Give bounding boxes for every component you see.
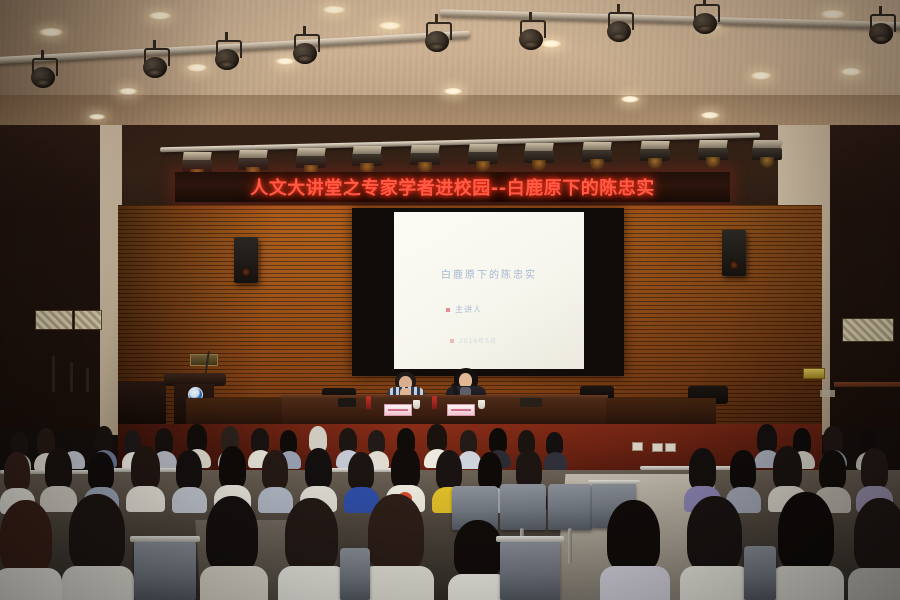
av-device bbox=[520, 398, 542, 407]
stage-par-light bbox=[868, 14, 894, 44]
name-placard bbox=[384, 404, 412, 416]
slide-bullet-2-label: 2016年5月 bbox=[459, 336, 497, 345]
slide-bullet-2: 2016年5月 bbox=[450, 336, 497, 345]
seat-rail bbox=[130, 536, 200, 542]
seat-rail bbox=[496, 536, 564, 542]
mic-stand bbox=[70, 362, 73, 392]
audience-person bbox=[200, 496, 266, 600]
stage-par-light bbox=[518, 20, 544, 50]
projection-screen-frame: 白鹿原下的陈忠实 主讲人 2016年5月 bbox=[352, 208, 624, 376]
wall-outlet bbox=[632, 442, 643, 451]
auditorium-seat[interactable] bbox=[744, 546, 776, 600]
loudspeaker-icon bbox=[722, 230, 746, 276]
auditorium-seat[interactable] bbox=[548, 484, 592, 530]
fresnel-light bbox=[752, 140, 782, 166]
downlight-icon bbox=[38, 28, 64, 37]
stage-equipment bbox=[118, 382, 166, 426]
audience-person bbox=[770, 492, 842, 600]
water-bottle bbox=[432, 396, 437, 409]
downlight-icon bbox=[820, 10, 846, 19]
audience-person bbox=[360, 494, 432, 600]
downlight-icon bbox=[840, 68, 862, 76]
louvre-window bbox=[74, 310, 102, 330]
audience-person bbox=[680, 496, 750, 600]
louvre-window bbox=[35, 310, 73, 330]
downlight-icon bbox=[700, 112, 720, 119]
banner-text: 人文大讲堂之专家学者进校园--白鹿原下的陈忠实 bbox=[250, 174, 654, 200]
stage-table-left-wing bbox=[186, 398, 282, 426]
wall-plaque bbox=[190, 354, 218, 366]
mic-stand bbox=[52, 356, 55, 392]
mic-stand bbox=[86, 368, 89, 392]
audience-person bbox=[448, 520, 508, 600]
projection-screen: 白鹿原下的陈忠实 主讲人 2016年5月 bbox=[394, 212, 584, 369]
event-banner: 人文大讲堂之专家学者进校园--白鹿原下的陈忠实 bbox=[175, 172, 730, 202]
stage-par-light bbox=[692, 4, 718, 34]
laptop-device bbox=[338, 398, 356, 407]
loudspeaker-icon bbox=[234, 237, 258, 283]
wall-outlet bbox=[665, 443, 676, 452]
downlight-icon bbox=[620, 96, 640, 103]
auditorium-seat[interactable] bbox=[340, 548, 370, 600]
fresnel-light bbox=[698, 140, 728, 166]
fresnel-light bbox=[524, 143, 554, 169]
downlight-icon bbox=[118, 88, 138, 95]
lecture-hall-photo: 人文大讲堂之专家学者进校园--白鹿原下的陈忠实 白鹿原下的陈忠实 主讲人 201… bbox=[0, 0, 900, 600]
audience-person bbox=[544, 432, 566, 466]
stage-par-light bbox=[142, 48, 168, 78]
fresnel-light bbox=[410, 145, 440, 171]
audience-person bbox=[0, 500, 60, 600]
seat-leg bbox=[568, 528, 572, 564]
downlight-icon bbox=[186, 64, 208, 72]
wall-accent-stripe bbox=[834, 382, 900, 387]
water-cup bbox=[478, 400, 485, 409]
stage-table-right-wing bbox=[606, 398, 716, 426]
water-bottle bbox=[366, 396, 371, 409]
wall-outlet bbox=[652, 443, 663, 452]
audience-person bbox=[278, 498, 346, 600]
audience-person bbox=[600, 500, 668, 600]
stage-par-light bbox=[606, 12, 632, 42]
stage-par-light bbox=[214, 40, 240, 70]
stage-par-light bbox=[292, 34, 318, 64]
water-cup bbox=[413, 400, 420, 409]
audience-person bbox=[848, 498, 900, 600]
fresnel-light bbox=[468, 144, 498, 170]
name-placard bbox=[447, 404, 475, 416]
fresnel-light bbox=[640, 141, 670, 167]
downlight-icon bbox=[148, 12, 172, 20]
seat-rail bbox=[588, 480, 640, 484]
downlight-icon bbox=[750, 72, 772, 80]
fresnel-light bbox=[582, 142, 612, 168]
stage-par-light bbox=[30, 58, 56, 88]
downlight-icon bbox=[378, 22, 402, 30]
gold-wall-sign bbox=[803, 368, 825, 379]
audience-person bbox=[62, 494, 132, 600]
auditorium-seat[interactable] bbox=[500, 540, 560, 600]
fresnel-light bbox=[296, 148, 326, 174]
small-wall-plate bbox=[820, 390, 835, 397]
downlight-icon bbox=[88, 114, 106, 120]
downlight-icon bbox=[322, 6, 346, 14]
louvre-window bbox=[842, 318, 894, 342]
slide-title: 白鹿原下的陈忠实 bbox=[394, 266, 584, 281]
fresnel-light bbox=[352, 146, 382, 172]
slide-bullet-1: 主讲人 bbox=[446, 304, 482, 315]
bullet-square-icon bbox=[446, 308, 450, 312]
downlight-icon bbox=[443, 88, 463, 95]
auditorium-seat[interactable] bbox=[134, 540, 196, 600]
slide-bullet-1-label: 主讲人 bbox=[455, 304, 482, 315]
stage-par-light bbox=[424, 22, 450, 52]
bullet-square-icon bbox=[450, 339, 454, 343]
